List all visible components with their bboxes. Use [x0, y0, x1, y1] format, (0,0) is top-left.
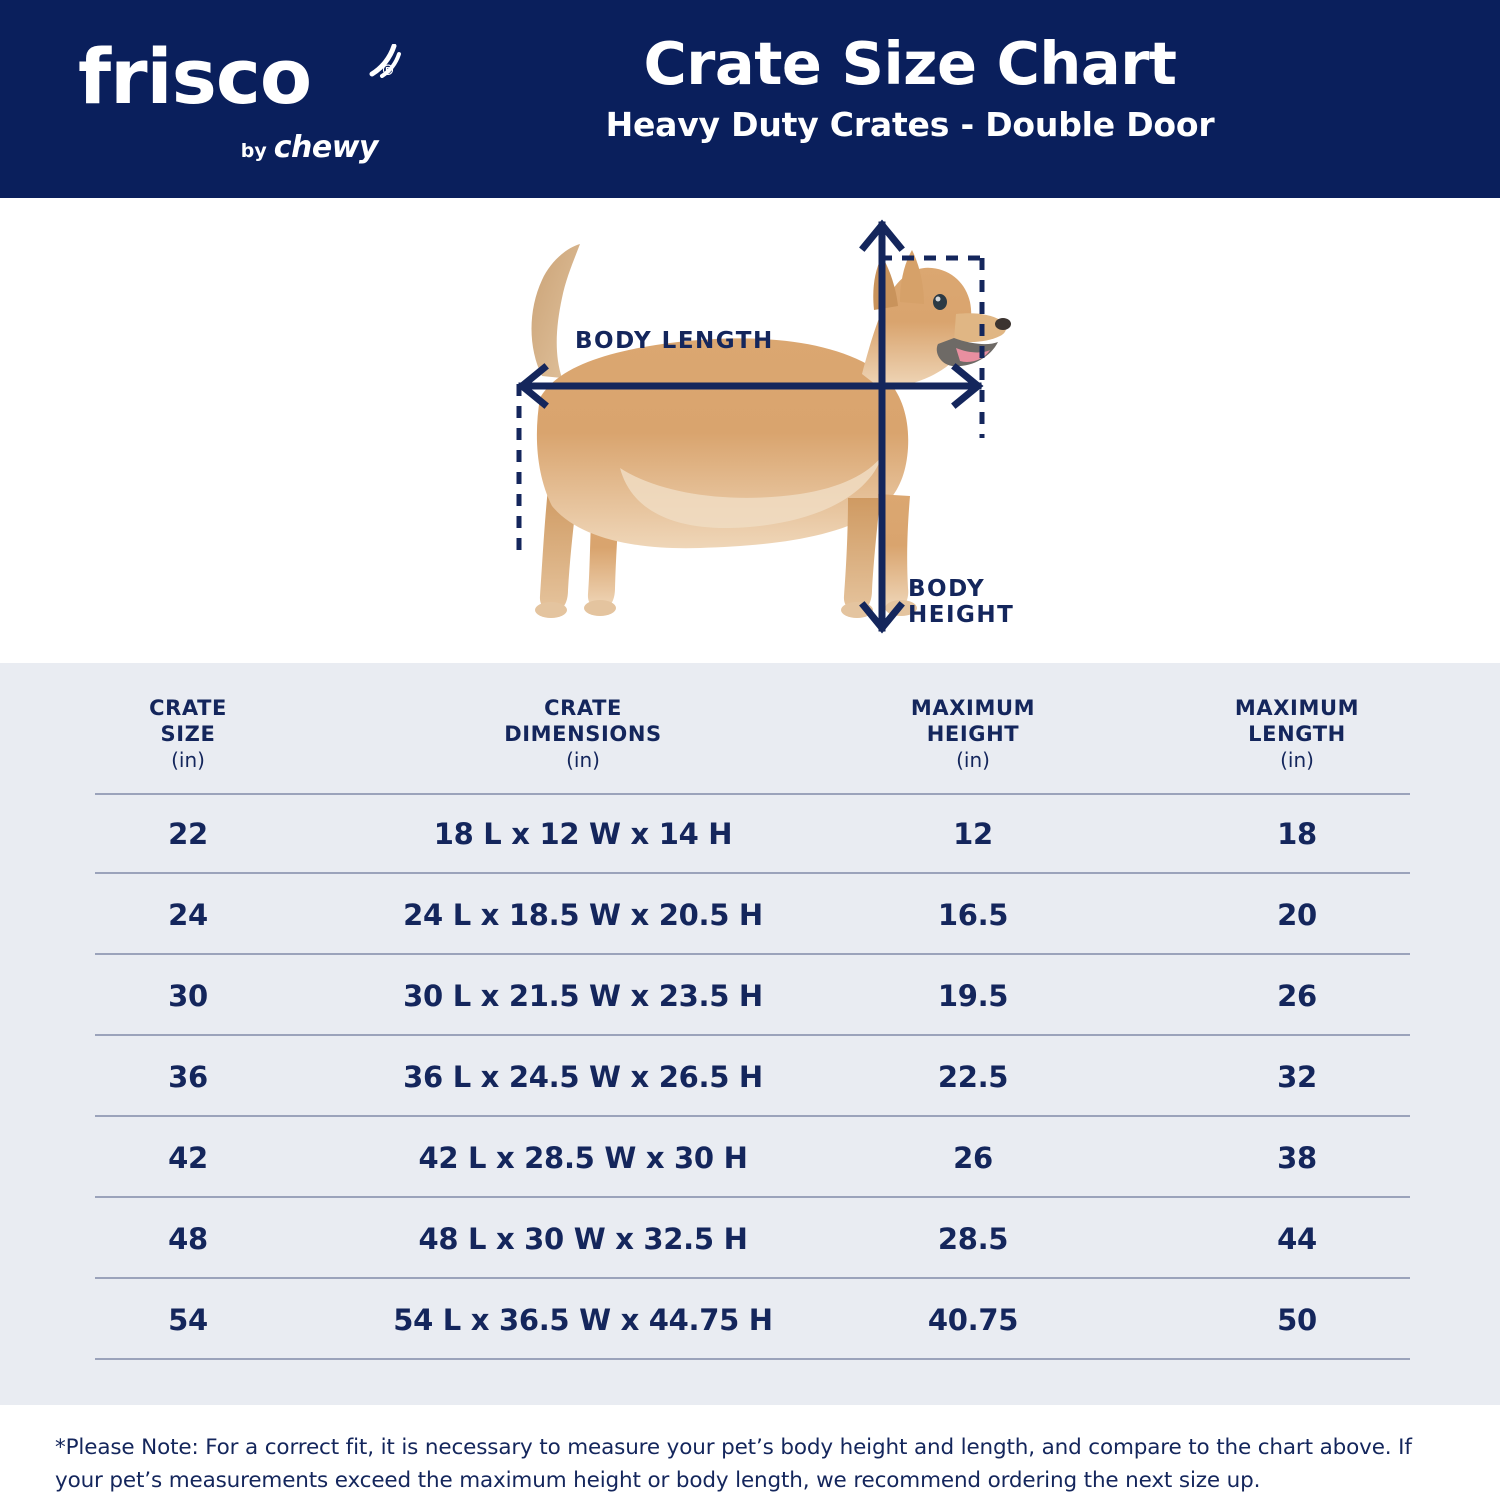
- frisco-logo: frisco ® by chewy: [78, 38, 388, 163]
- cell-maximum-length: 18: [1047, 793, 1500, 874]
- column-header-maximum-length: MAXIMUMLENGTH(in): [1097, 695, 1497, 773]
- crate-size-chart-page: frisco ® by chewy Crate Size Chart Heavy…: [0, 0, 1500, 1500]
- table-body: 2218 L x 12 W x 14 H12182424 L x 18.5 W …: [0, 793, 1500, 1360]
- body-height-label-line2: HEIGHT: [908, 602, 1014, 628]
- measurement-illustration: BODY LENGTH BODY HEIGHT: [0, 198, 1500, 663]
- swoosh-icon: [368, 44, 402, 78]
- cell-maximum-length: 50: [1047, 1279, 1500, 1360]
- body-height-label: BODY HEIGHT: [908, 576, 1014, 628]
- page-title: Crate Size Chart: [400, 28, 1420, 100]
- byline-by-text: by: [241, 140, 267, 162]
- footnote-section: *Please Note: For a correct fit, it is n…: [0, 1405, 1500, 1500]
- column-header-main: CRATEDIMENSIONS: [383, 695, 783, 747]
- brand-byline: by chewy: [241, 130, 378, 165]
- column-header-main: CRATESIZE: [0, 695, 388, 747]
- cell-maximum-length: 44: [1047, 1198, 1500, 1279]
- table-row: 3030 L x 21.5 W x 23.5 H19.526: [0, 955, 1500, 1036]
- cell-maximum-length: 20: [1047, 874, 1500, 955]
- table-header-row: CRATESIZE(in)CRATEDIMENSIONS(in)MAXIMUMH…: [0, 663, 1500, 793]
- brand-wordmark: frisco ®: [78, 38, 388, 116]
- column-header-unit: (in): [1097, 747, 1497, 773]
- crate-size-table: CRATESIZE(in)CRATEDIMENSIONS(in)MAXIMUMH…: [0, 663, 1500, 1405]
- table-row: 5454 L x 36.5 W x 44.75 H40.7550: [0, 1279, 1500, 1360]
- brand-name-text: frisco: [78, 32, 311, 121]
- column-header-crate-size: CRATESIZE(in): [0, 695, 388, 773]
- page-header: frisco ® by chewy Crate Size Chart Heavy…: [0, 0, 1500, 198]
- header-title-block: Crate Size Chart Heavy Duty Crates - Dou…: [400, 28, 1420, 148]
- dog-illustration: [532, 244, 1012, 618]
- cell-maximum-length: 38: [1047, 1117, 1500, 1198]
- column-header-unit: (in): [0, 747, 388, 773]
- table-row: 2424 L x 18.5 W x 20.5 H16.520: [0, 874, 1500, 955]
- page-subtitle: Heavy Duty Crates - Double Door: [400, 102, 1420, 148]
- row-divider: [95, 1358, 1410, 1360]
- column-header-crate-dimensions: CRATEDIMENSIONS(in): [383, 695, 783, 773]
- table-row: 4242 L x 28.5 W x 30 H2638: [0, 1117, 1500, 1198]
- cell-maximum-length: 26: [1047, 955, 1500, 1036]
- column-header-unit: (in): [383, 747, 783, 773]
- table-row: 4848 L x 30 W x 32.5 H28.544: [0, 1198, 1500, 1279]
- table-row: 2218 L x 12 W x 14 H1218: [0, 793, 1500, 874]
- body-height-label-line1: BODY: [908, 576, 985, 602]
- cell-maximum-length: 32: [1047, 1036, 1500, 1117]
- byline-partner-text: chewy: [274, 130, 378, 165]
- body-length-label: BODY LENGTH: [575, 328, 774, 354]
- illustration-canvas: BODY LENGTH BODY HEIGHT: [470, 198, 1070, 663]
- column-header-main: MAXIMUMLENGTH: [1097, 695, 1497, 747]
- footnote-text: *Please Note: For a correct fit, it is n…: [55, 1431, 1455, 1497]
- table-row: 3636 L x 24.5 W x 26.5 H22.532: [0, 1036, 1500, 1117]
